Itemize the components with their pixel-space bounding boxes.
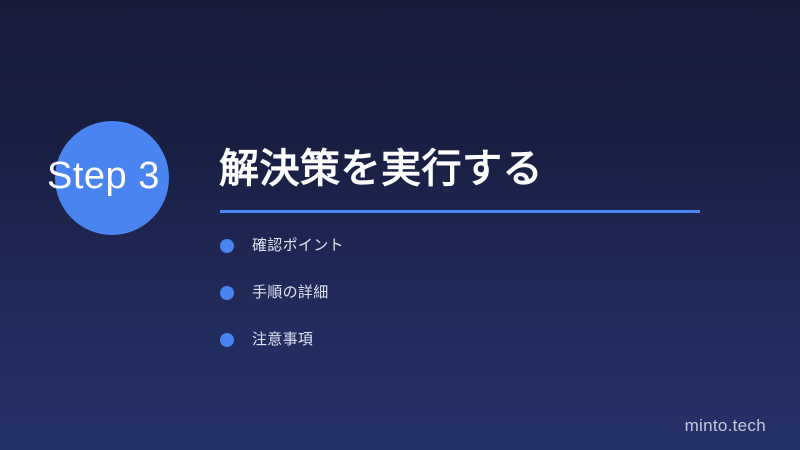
- footer-watermark: minto.tech: [685, 415, 766, 437]
- slide-canvas: Step 3 解決策を実行する 確認ポイント 手順の詳細 注意事項 minto.…: [0, 0, 800, 450]
- bullet-item-label: 確認ポイント: [252, 235, 344, 257]
- title-divider: [220, 210, 700, 213]
- list-item: 確認ポイント: [220, 232, 680, 259]
- list-item: 手順の詳細: [220, 279, 680, 306]
- bullet-dot-icon: [220, 286, 234, 300]
- bullet-item-label: 手順の詳細: [252, 282, 329, 304]
- list-item: 注意事項: [220, 326, 680, 353]
- bullet-item-label: 注意事項: [252, 329, 313, 351]
- step-badge-label: Step 3: [47, 152, 217, 200]
- slide-title: 解決策を実行する: [219, 145, 543, 193]
- bullet-dot-icon: [220, 239, 234, 253]
- bullet-dot-icon: [220, 333, 234, 347]
- bullet-list: 確認ポイント 手順の詳細 注意事項: [220, 232, 680, 373]
